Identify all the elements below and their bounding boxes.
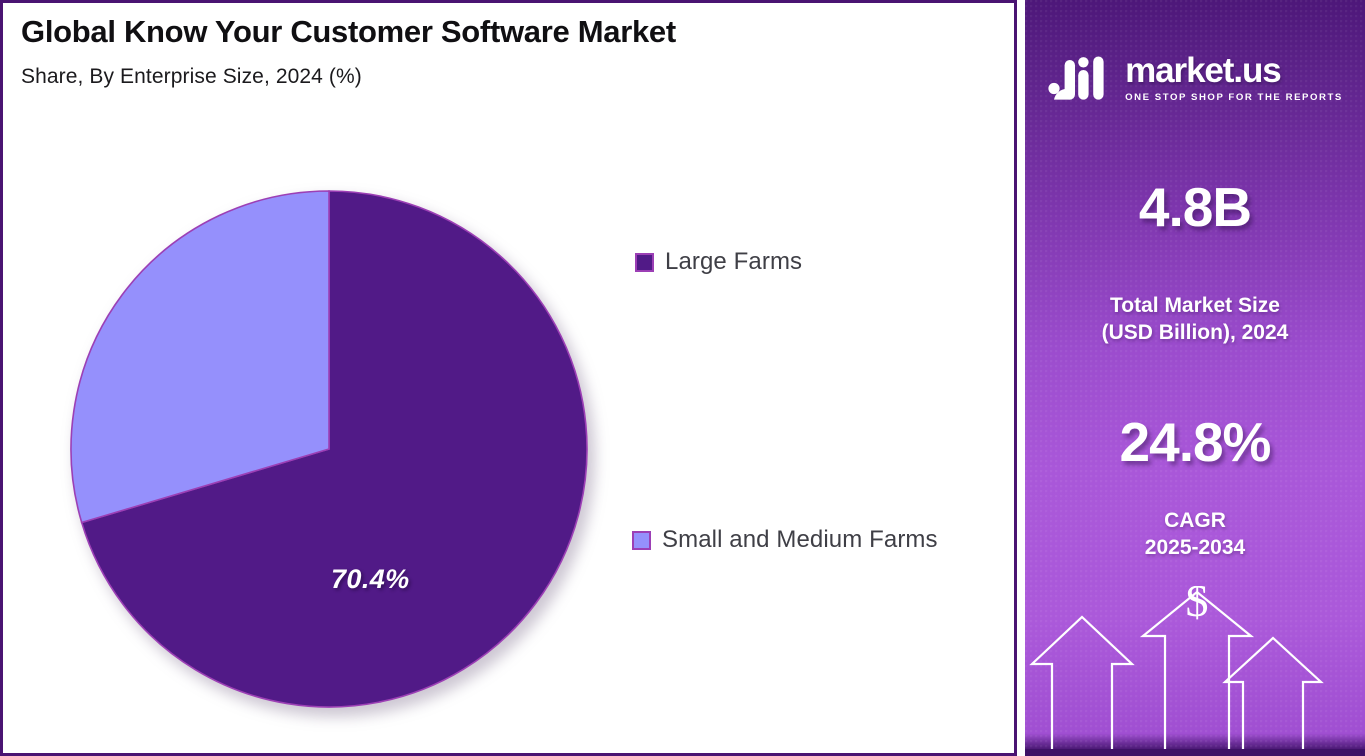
- arrow-up-icon-left: [1032, 617, 1132, 756]
- dollar-sign-icon: $: [1186, 586, 1209, 626]
- chart-panel: Global Know Your Customer Software Marke…: [0, 0, 1017, 756]
- legend-swatch-icon: [635, 253, 654, 272]
- infographic-root: Global Know Your Customer Software Marke…: [0, 0, 1365, 756]
- page-title: Global Know Your Customer Software Marke…: [21, 11, 981, 53]
- stat-caption-line-2: 2025-2034: [1025, 534, 1365, 561]
- stat-caption-line-1: CAGR: [1025, 507, 1365, 534]
- legend-item-large-farms[interactable]: Large Farms: [635, 248, 802, 276]
- page-subtitle: Share, By Enterprise Size, 2024 (%): [21, 65, 981, 89]
- logo-tagline: ONE STOP SHOP FOR THE REPORTS: [1125, 92, 1343, 103]
- growth-arrows-illustration: $: [1025, 586, 1365, 756]
- logo-text-block: market.us ONE STOP SHOP FOR THE REPORTS: [1125, 53, 1343, 103]
- stats-panel: market.us ONE STOP SHOP FOR THE REPORTS …: [1025, 0, 1365, 756]
- brand-logo[interactable]: market.us ONE STOP SHOP FOR THE REPORTS: [1025, 52, 1365, 104]
- market-us-logo-icon: [1047, 52, 1113, 104]
- arrow-up-icon-right: [1225, 638, 1321, 756]
- stat-caption-cagr: CAGR 2025-2034: [1025, 507, 1365, 562]
- pie-chart: 70.4%: [69, 189, 593, 713]
- legend-swatch-icon: [632, 531, 651, 550]
- logo-wordmark: market.us: [1125, 53, 1343, 88]
- legend-label: Small and Medium Farms: [662, 526, 938, 554]
- legend-item-small-and-medium-farms[interactable]: Small and Medium Farms: [632, 526, 938, 554]
- stat-value-market-size: 4.8B: [1025, 175, 1365, 239]
- stat-caption-market-size: Total Market Size (USD Billion), 2024: [1025, 292, 1365, 347]
- pie-slice-label-large-farms: 70.4%: [331, 564, 410, 595]
- legend-label: Large Farms: [665, 248, 802, 276]
- pie-slices: [69, 189, 589, 709]
- stat-caption-line-2: (USD Billion), 2024: [1025, 319, 1365, 346]
- panel-footer-band: [1025, 749, 1365, 756]
- stat-caption-line-1: Total Market Size: [1025, 292, 1365, 319]
- title-block: Global Know Your Customer Software Marke…: [21, 11, 981, 89]
- stat-value-cagr: 24.8%: [1025, 410, 1365, 474]
